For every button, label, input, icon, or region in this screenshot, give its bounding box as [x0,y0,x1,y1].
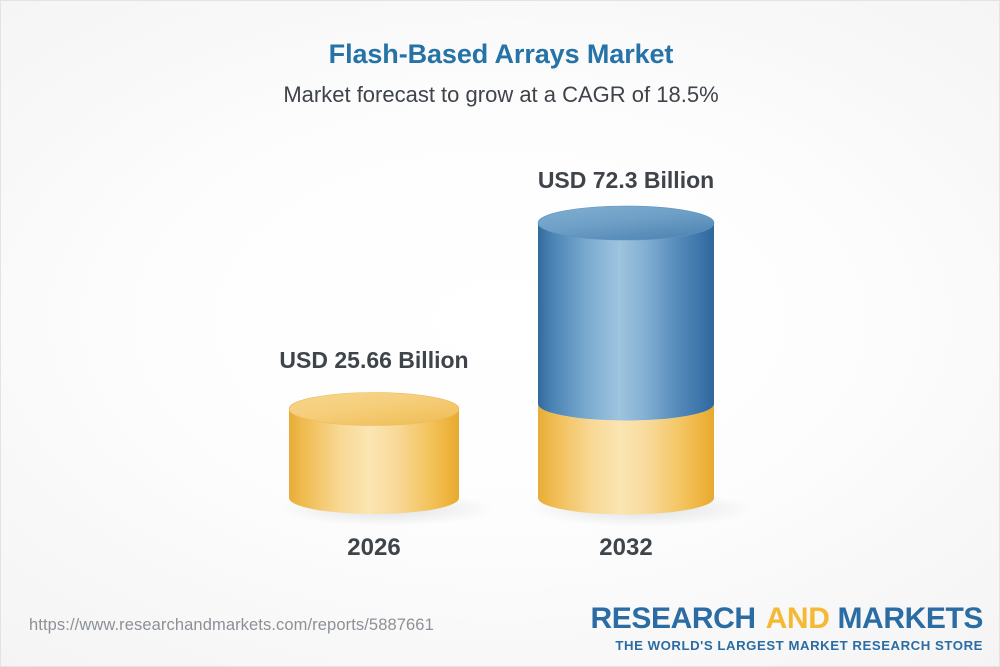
cylinder-2032-top-segment [538,223,714,421]
cylinder-2032 [538,206,714,515]
report-url[interactable]: https://www.researchandmarkets.com/repor… [29,616,434,635]
category-label-2032: 2032 [496,533,756,563]
logo-word-and: AND [766,602,830,635]
logo-wordmark: RESEARCHANDMARKETS [591,602,983,636]
cylinder-2026-top-cap [289,393,459,426]
cylinder-bar-chart: USD 25.66 Billion USD 72.3 Billion 2026 … [1,1,1000,667]
category-label-2026: 2026 [244,533,504,563]
market-forecast-infographic: Flash-Based Arrays Market Market forecas… [0,0,1000,667]
cylinder-2032-base-segment [538,404,714,515]
logo-word-research: RESEARCH [591,602,756,635]
logo-word-markets: MARKETS [837,602,983,635]
value-label-2032: USD 72.3 Billion [496,166,756,194]
cylinder-2032-top-cap [538,206,714,240]
cylinder-2026 [289,393,459,515]
footer: https://www.researchandmarkets.com/repor… [1,594,1000,666]
logo-tagline: THE WORLD'S LARGEST MARKET RESEARCH STOR… [591,637,983,654]
value-label-2026: USD 25.66 Billion [244,346,504,374]
chart-svg [1,1,1000,667]
research-and-markets-logo[interactable]: RESEARCHANDMARKETS THE WORLD'S LARGEST M… [591,602,983,654]
